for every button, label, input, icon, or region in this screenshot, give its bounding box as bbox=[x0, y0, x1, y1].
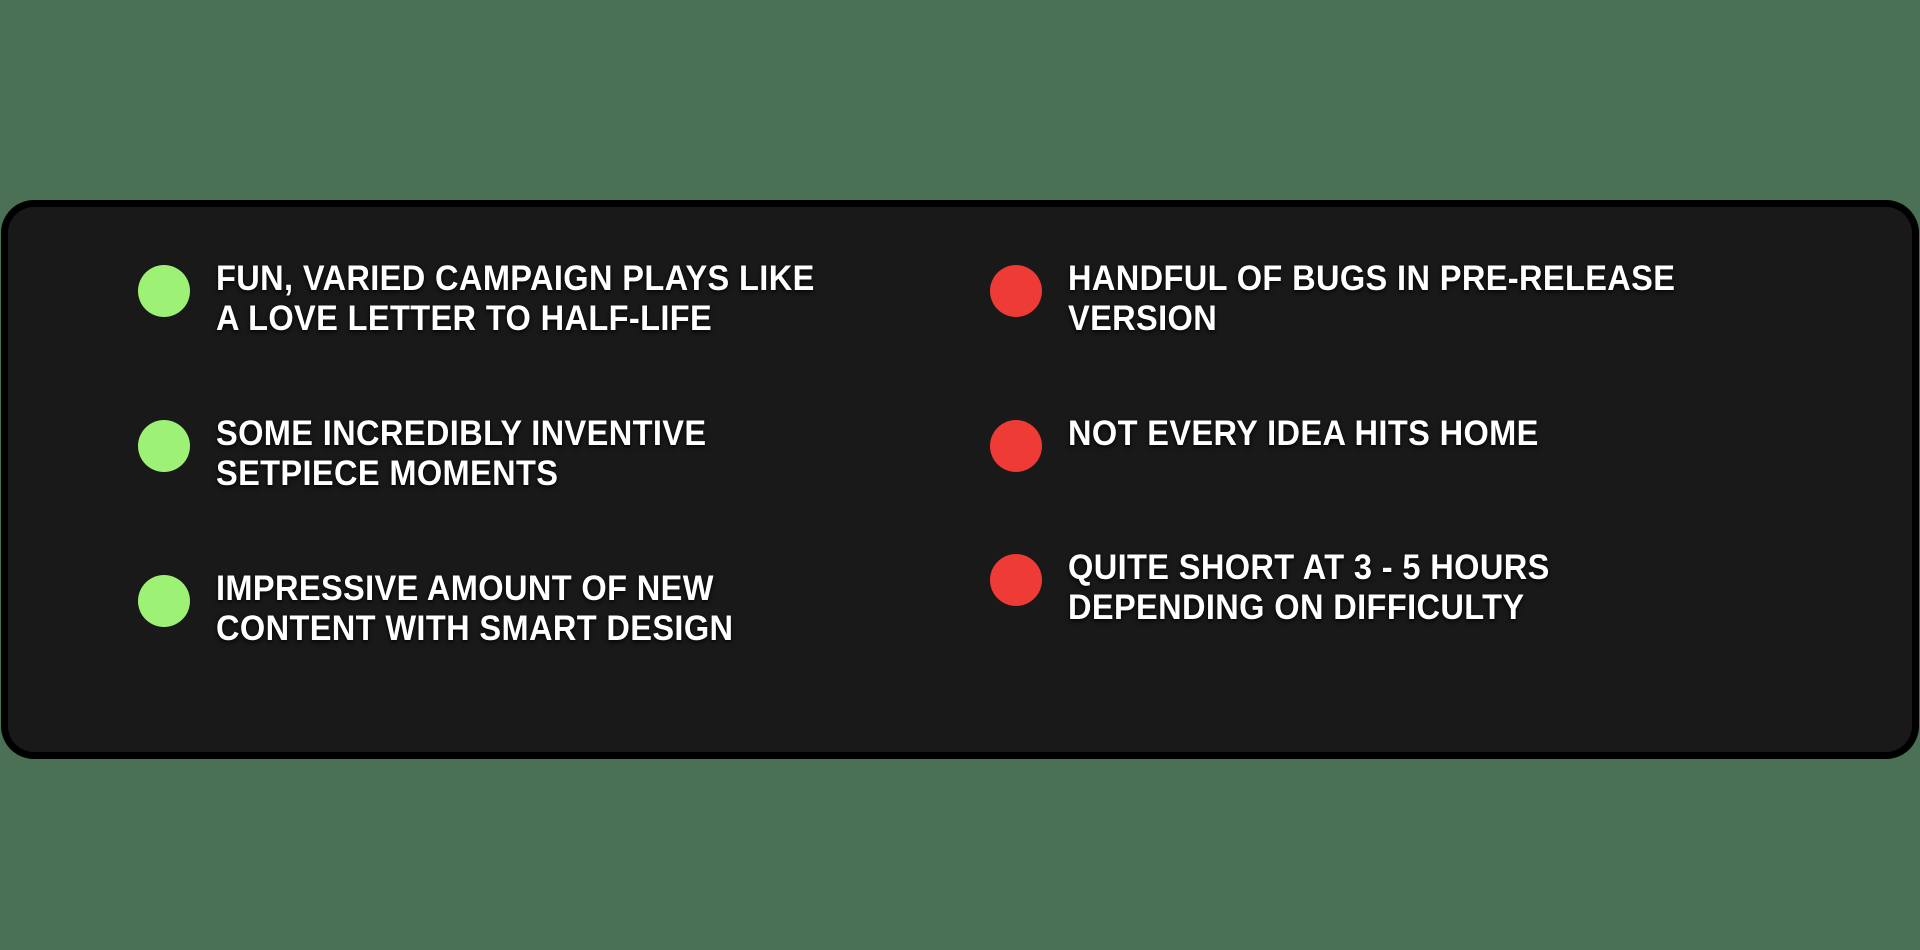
pro-item-text: Impressive amount of new content with sm… bbox=[216, 569, 830, 648]
green-circle-icon bbox=[138, 575, 190, 627]
pro-item-text: Some incredibly inventive setpiece momen… bbox=[216, 414, 830, 493]
con-item-text: Not every idea hits home bbox=[1068, 414, 1539, 454]
green-circle-icon bbox=[138, 420, 190, 472]
list-item: Fun, varied campaign plays like a love l… bbox=[138, 259, 920, 338]
con-item-text: Handful of bugs in pre-release version bbox=[1068, 259, 1682, 338]
list-item: Handful of bugs in pre-release version bbox=[990, 259, 1872, 338]
pro-item-text: Fun, varied campaign plays like a love l… bbox=[216, 259, 830, 338]
list-item: Not every idea hits home bbox=[990, 414, 1872, 472]
red-circle-icon bbox=[990, 420, 1042, 472]
con-item-text: Quite short at 3 - 5 hours depending on … bbox=[1068, 548, 1682, 627]
red-circle-icon bbox=[990, 265, 1042, 317]
cons-column: Handful of bugs in pre-release version N… bbox=[960, 207, 1912, 627]
green-circle-icon bbox=[138, 265, 190, 317]
red-circle-icon bbox=[990, 554, 1042, 606]
pros-column: Fun, varied campaign plays like a love l… bbox=[8, 207, 960, 648]
list-item: Impressive amount of new content with sm… bbox=[138, 569, 920, 648]
verdict-panel: Fun, varied campaign plays like a love l… bbox=[8, 207, 1912, 752]
list-item: Some incredibly inventive setpiece momen… bbox=[138, 414, 920, 493]
list-item: Quite short at 3 - 5 hours depending on … bbox=[990, 548, 1872, 627]
